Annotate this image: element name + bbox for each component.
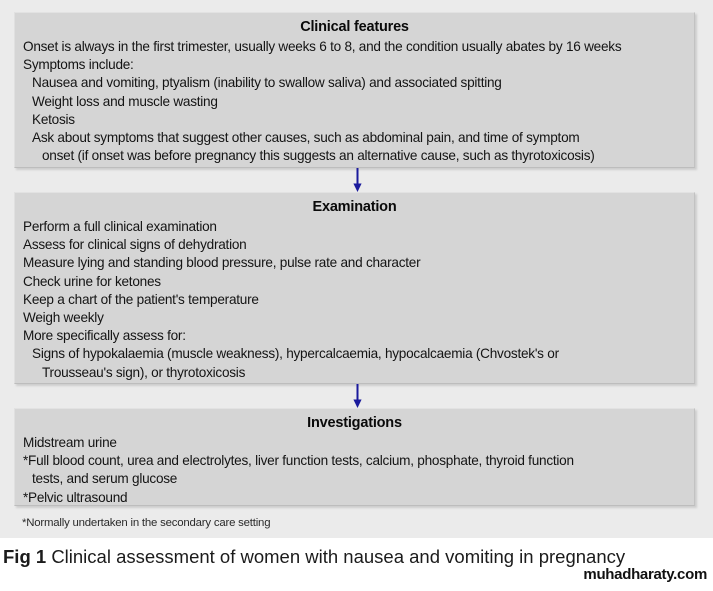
box-line: Weight loss and muscle wasting <box>23 93 686 111</box>
down-arrow-icon <box>352 384 363 409</box>
box-title-clinical-features: Clinical features <box>23 18 686 37</box>
watermark: muhadharaty.com <box>583 566 707 583</box>
box-line: Nausea and vomiting, ptyalism (inability… <box>23 74 686 92</box>
box-line: Perform a full clinical examination <box>23 218 686 236</box>
box-line: Symptoms include: <box>23 56 686 74</box>
figure-caption: Fig 1 Clinical assessment of women with … <box>3 545 625 568</box>
box-line: Check urine for ketones <box>23 273 686 291</box>
box-title-investigations: Investigations <box>23 414 686 433</box>
box-line: *Full blood count, urea and electrolytes… <box>23 452 686 470</box>
box-body-investigations: Midstream urine *Full blood count, urea … <box>23 434 686 507</box>
figure-root: Clinical features Onset is always in the… <box>0 0 713 591</box>
box-line: Weigh weekly <box>23 309 686 327</box>
down-arrow-icon <box>352 168 363 193</box>
flow-box-clinical-features: Clinical features Onset is always in the… <box>14 12 695 168</box>
figure-caption-text: Clinical assessment of women with nausea… <box>51 546 625 567</box>
box-title-examination: Examination <box>23 198 686 217</box>
box-body-clinical-features: Onset is always in the first trimester, … <box>23 38 686 165</box>
box-line: Keep a chart of the patient's temperatur… <box>23 291 686 309</box>
figure-footnote: *Normally undertaken in the secondary ca… <box>22 517 270 529</box>
flow-box-investigations: Investigations Midstream urine *Full blo… <box>14 408 695 506</box>
box-line: Trousseau's sign), or thyrotoxicosis <box>23 364 686 382</box>
box-line: Signs of hypokalaemia (muscle weakness),… <box>23 345 686 363</box>
box-line: Onset is always in the first trimester, … <box>23 38 686 56</box>
box-line: Ketosis <box>23 111 686 129</box>
box-line: tests, and serum glucose <box>23 470 686 488</box>
figure-caption-label: Fig 1 <box>3 546 46 567</box>
flow-box-examination: Examination Perform a full clinical exam… <box>14 192 695 384</box>
box-line: Ask about symptoms that suggest other ca… <box>23 129 686 147</box>
box-line: Assess for clinical signs of dehydration <box>23 236 686 254</box>
box-line: Midstream urine <box>23 434 686 452</box>
box-line: More specifically assess for: <box>23 327 686 345</box>
box-line: onset (if onset was before pregnancy thi… <box>23 147 686 165</box>
box-line: *Pelvic ultrasound <box>23 489 686 507</box>
box-line: Measure lying and standing blood pressur… <box>23 254 686 272</box>
box-body-examination: Perform a full clinical examination Asse… <box>23 218 686 382</box>
caption-band: Fig 1 Clinical assessment of women with … <box>0 538 713 591</box>
